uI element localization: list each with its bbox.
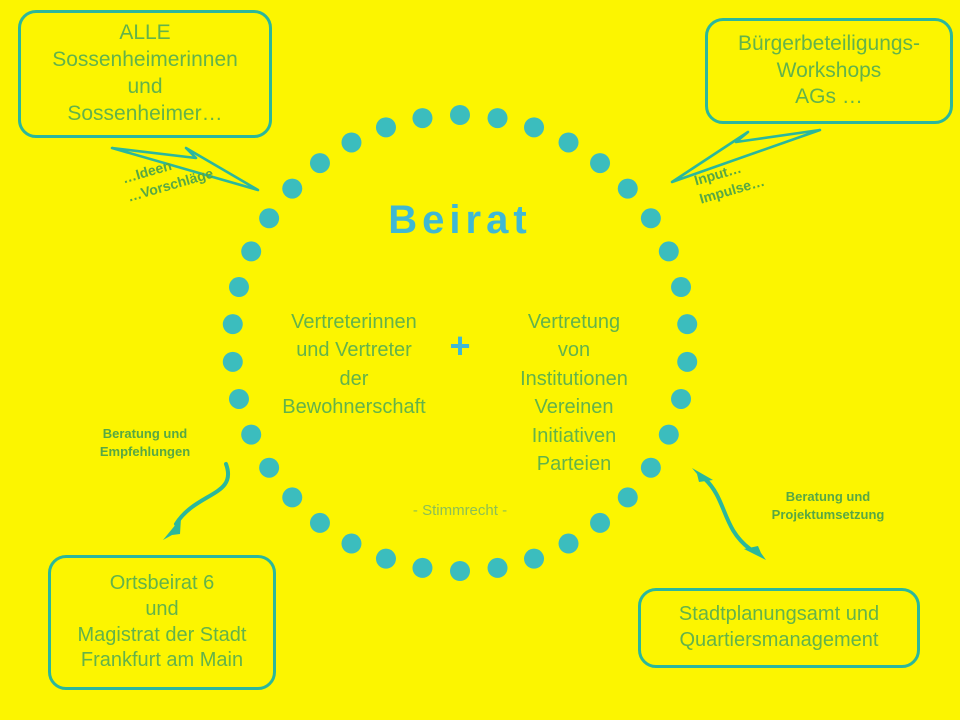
ring-dot bbox=[310, 513, 330, 533]
arrow-head-right-down bbox=[744, 546, 766, 560]
ring-dot bbox=[590, 513, 610, 533]
ring-dot bbox=[341, 132, 361, 152]
ring-dot bbox=[559, 534, 579, 554]
arrow-label-beratung-empfehlungen: Beratung und Empfehlungen bbox=[80, 425, 210, 460]
ring-dot bbox=[223, 314, 243, 334]
ring-dot bbox=[282, 487, 302, 507]
ring-dot bbox=[641, 208, 661, 228]
arrow-head-left bbox=[163, 518, 181, 540]
diagram-canvas: ALLE Sossenheimerinnen und Sossenheimer…… bbox=[0, 0, 960, 720]
box-ortsbeirat: Ortsbeirat 6 und Magistrat der Stadt Fra… bbox=[48, 555, 276, 690]
ring-dot bbox=[282, 179, 302, 199]
page-title-beirat: Beirat bbox=[330, 198, 590, 243]
ring-dot bbox=[259, 458, 279, 478]
ring-dot bbox=[241, 425, 261, 445]
speech-bubble-citizens: ALLE Sossenheimerinnen und Sossenheimer… bbox=[18, 10, 272, 138]
ring-dot bbox=[488, 108, 508, 128]
ring-dot bbox=[618, 487, 638, 507]
ring-dot bbox=[223, 352, 243, 372]
ring-dot bbox=[376, 117, 396, 137]
footnote-stimmrecht: - Stimmrecht - bbox=[360, 502, 560, 519]
ring-dot bbox=[559, 132, 579, 152]
ring-dot bbox=[241, 241, 261, 261]
ring-dot bbox=[671, 389, 691, 409]
ring-dot bbox=[341, 534, 361, 554]
ring-dot bbox=[450, 105, 470, 125]
ring-dot bbox=[412, 108, 432, 128]
plus-icon: + bbox=[440, 328, 480, 364]
box-stadtplanungsamt: Stadtplanungsamt und Quartiersmanagement bbox=[638, 588, 920, 668]
ring-dot bbox=[259, 208, 279, 228]
ring-dot bbox=[376, 549, 396, 569]
tail-caption-input: Input… Impulse… bbox=[692, 142, 808, 209]
beirat-members-residents: Vertreterinnen und Vertreter der Bewohne… bbox=[268, 308, 440, 422]
ring-dot bbox=[677, 314, 697, 334]
beirat-members-institutions: Vertretung von Institutionen Vereinen In… bbox=[488, 308, 660, 478]
arrow-label-beratung-projektumsetzung: Beratung und Projektumsetzung bbox=[744, 488, 912, 523]
ring-dot bbox=[659, 425, 679, 445]
ring-dot bbox=[671, 277, 691, 297]
ring-dot bbox=[412, 558, 432, 578]
ring-dot bbox=[659, 241, 679, 261]
ring-dot bbox=[590, 153, 610, 173]
ring-dot bbox=[488, 558, 508, 578]
ring-dot bbox=[524, 549, 544, 569]
ring-dot bbox=[450, 561, 470, 581]
ring-dot bbox=[229, 277, 249, 297]
arrow-head-right-up bbox=[692, 468, 713, 482]
ring-dot bbox=[524, 117, 544, 137]
ring-dot bbox=[229, 389, 249, 409]
curved-arrow-down-left bbox=[176, 464, 228, 524]
ring-dot bbox=[618, 179, 638, 199]
speech-bubble-workshops: Bürgerbeteiligungs- Workshops AGs … bbox=[705, 18, 953, 124]
ring-dot bbox=[310, 153, 330, 173]
tail-caption-ideen: …Ideen …Vorschläge bbox=[120, 137, 246, 206]
ring-dot bbox=[677, 352, 697, 372]
